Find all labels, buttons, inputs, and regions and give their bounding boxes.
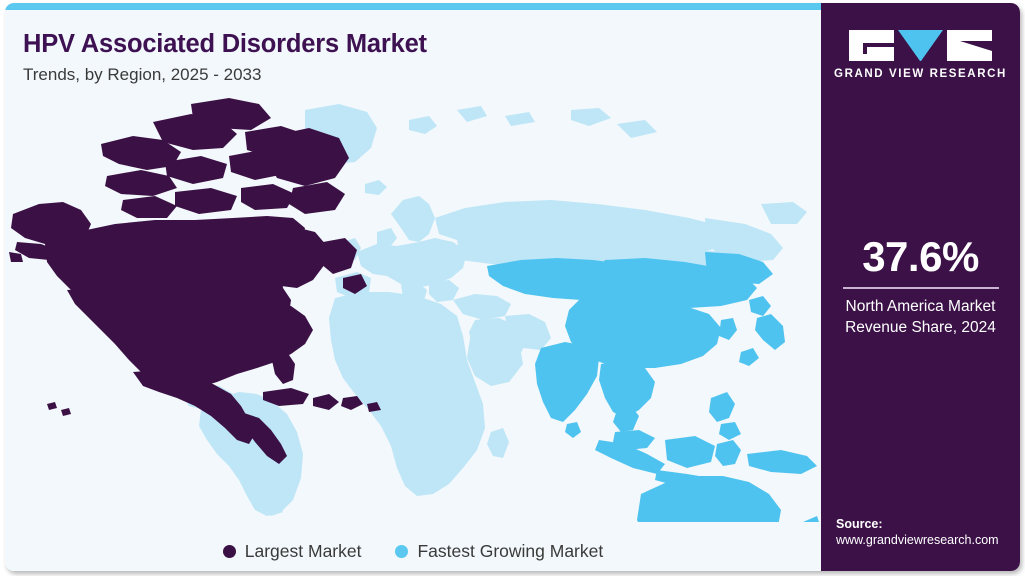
page-title: HPV Associated Disorders Market xyxy=(23,30,427,59)
legend-item-largest-market[interactable]: Largest Market xyxy=(223,541,362,562)
logo-v-triangle-icon xyxy=(898,30,943,61)
legend-dot-icon-largest xyxy=(223,545,236,558)
infographic-card: HPV Associated Disorders Market Trends, … xyxy=(5,3,1020,571)
stat-block: 37.6% North America Market Revenue Share… xyxy=(821,235,1020,338)
logo-wordmark: GRAND VIEW RESEARCH xyxy=(834,68,1007,80)
map-pane: HPV Associated Disorders Market Trends, … xyxy=(5,10,821,571)
legend-dot-icon-fastest xyxy=(395,545,408,558)
legend-label-largest: Largest Market xyxy=(245,541,362,562)
map-legend: Largest Market Fastest Growing Market xyxy=(5,530,821,571)
stat-panel: GRAND VIEW RESEARCH 37.6% North America … xyxy=(821,3,1020,571)
map-region-asia-pacific[interactable] xyxy=(487,252,821,522)
logo-mark xyxy=(849,30,992,61)
stat-divider xyxy=(843,287,999,289)
stat-caption-line-1: North America Market xyxy=(821,296,1020,317)
grand-view-research-logo[interactable]: GRAND VIEW RESEARCH xyxy=(821,30,1020,80)
logo-r-icon xyxy=(947,30,992,61)
stat-caption-line-2: Revenue Share, 2024 xyxy=(821,317,1020,338)
legend-label-fastest: Fastest Growing Market xyxy=(417,541,603,562)
stat-value: 37.6% xyxy=(821,235,1020,279)
logo-g-icon xyxy=(849,30,894,61)
page-subtitle: Trends, by Region, 2025 - 2033 xyxy=(23,65,261,85)
map-region-north-america[interactable] xyxy=(9,98,381,464)
legend-item-fastest-growing-market[interactable]: Fastest Growing Market xyxy=(395,541,603,562)
top-accent-bar xyxy=(5,3,821,10)
source-label: Source: xyxy=(836,517,1010,531)
world-map[interactable] xyxy=(5,92,821,522)
source-block: Source: www.grandviewresearch.com xyxy=(836,517,1010,547)
world-map-svg xyxy=(5,92,821,522)
source-url[interactable]: www.grandviewresearch.com xyxy=(836,533,1010,547)
